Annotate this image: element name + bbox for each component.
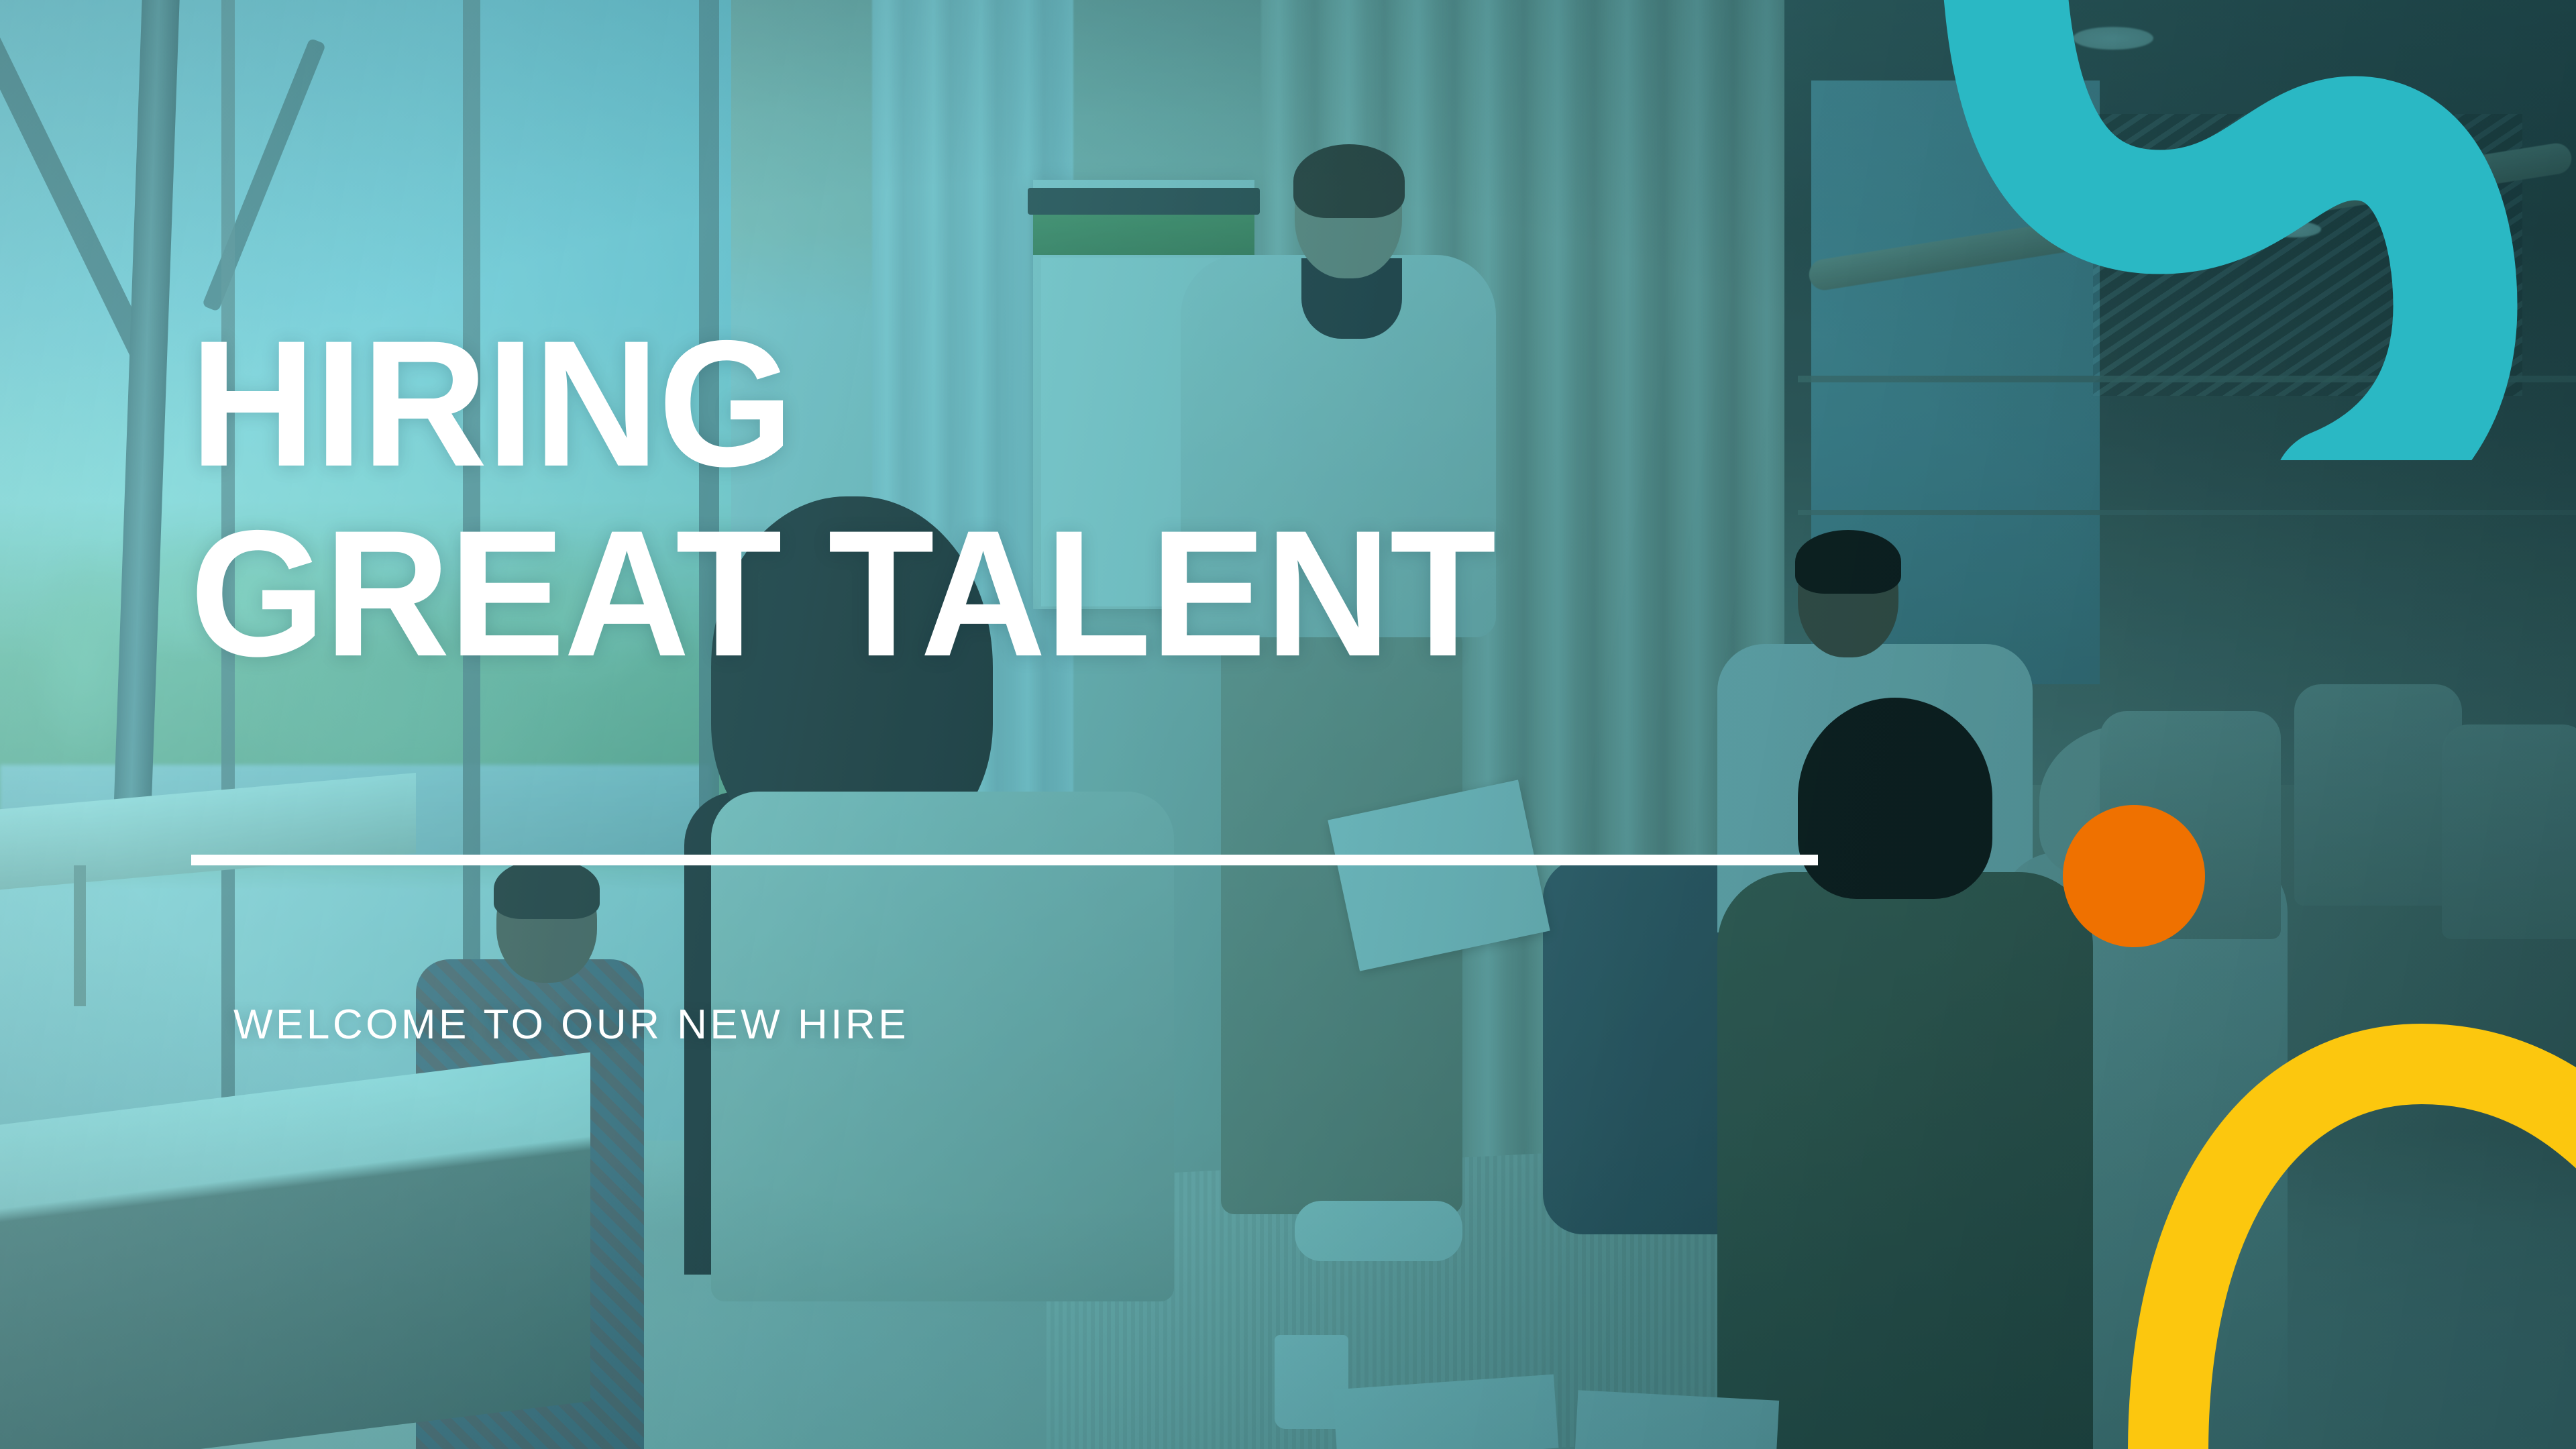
page-title: HIRING GREAT TALENT [190, 315, 1856, 681]
headline-line-1: HIRING [190, 303, 792, 504]
divider-rule [191, 855, 1818, 865]
vignette-overlay [0, 0, 2576, 1449]
poster-canvas: HIRING GREAT TALENT WELCOME TO OUR NEW H… [0, 0, 2576, 1449]
subtitle: WELCOME TO OUR NEW HIRE [233, 1001, 909, 1049]
headline-line-2: GREAT TALENT [190, 505, 1856, 682]
headline-block: HIRING GREAT TALENT [190, 315, 1907, 681]
